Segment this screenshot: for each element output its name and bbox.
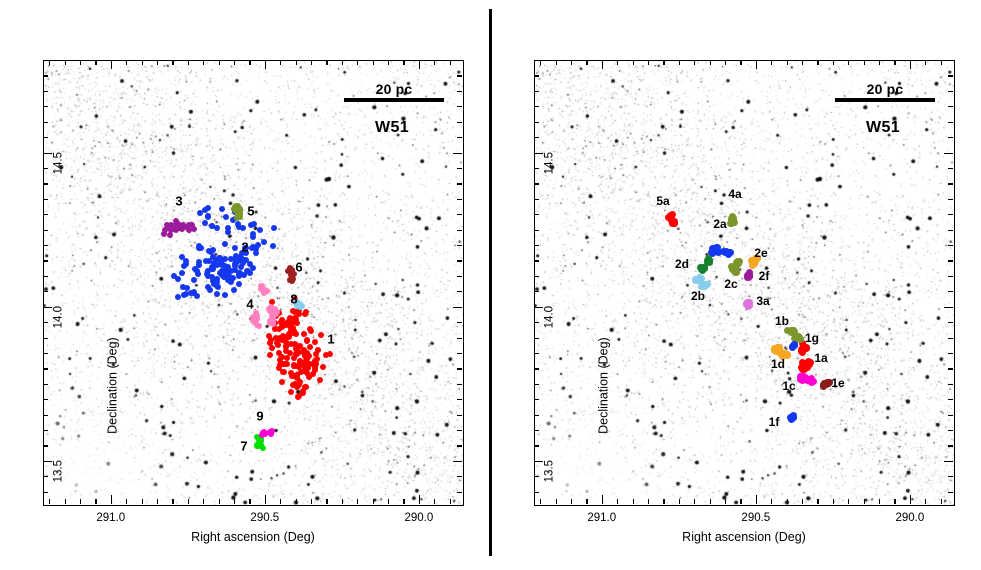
y-tick bbox=[534, 338, 539, 339]
x-tick bbox=[450, 499, 451, 504]
x-tick bbox=[894, 499, 895, 504]
x-tick bbox=[941, 60, 942, 65]
x-tick bbox=[802, 499, 803, 504]
y-tick bbox=[457, 415, 462, 416]
x-tick bbox=[172, 60, 173, 65]
x-tick bbox=[894, 60, 895, 65]
y-tick bbox=[43, 168, 48, 169]
y-tick-label: 14.0 bbox=[52, 306, 64, 328]
y-tick bbox=[534, 260, 539, 261]
x-tick bbox=[388, 499, 389, 504]
y-tick bbox=[43, 276, 48, 277]
y-tick bbox=[948, 291, 953, 292]
y-tick bbox=[948, 168, 953, 169]
y-tick bbox=[948, 322, 953, 323]
y-tick bbox=[534, 492, 539, 493]
y-tick bbox=[457, 276, 462, 277]
y-tick bbox=[534, 122, 539, 123]
object-name-left: W51 bbox=[375, 119, 409, 137]
y-tick bbox=[43, 461, 52, 462]
y-tick bbox=[534, 91, 539, 92]
x-tick bbox=[571, 499, 572, 504]
y-tick bbox=[948, 384, 953, 385]
x-tick bbox=[126, 60, 127, 65]
y-tick bbox=[43, 430, 48, 431]
y-tick bbox=[948, 368, 953, 369]
x-tick bbox=[219, 499, 220, 504]
y-tick bbox=[948, 415, 953, 416]
x-tick bbox=[388, 60, 389, 65]
y-tick bbox=[457, 291, 462, 292]
y-tick bbox=[534, 153, 543, 154]
x-tick bbox=[234, 499, 235, 504]
y-tick bbox=[534, 60, 539, 61]
y-tick bbox=[948, 338, 953, 339]
y-tick bbox=[457, 230, 462, 231]
y-tick bbox=[43, 91, 48, 92]
y-tick bbox=[948, 106, 953, 107]
x-tick bbox=[817, 60, 818, 65]
x-tick bbox=[434, 60, 435, 65]
y-tick bbox=[948, 137, 953, 138]
y-tick bbox=[948, 230, 953, 231]
x-tick bbox=[663, 499, 664, 504]
x-tick bbox=[602, 495, 603, 504]
y-tick bbox=[43, 106, 48, 107]
y-tick bbox=[534, 353, 539, 354]
y-tick bbox=[43, 399, 48, 400]
x-tick bbox=[203, 60, 204, 65]
x-tick bbox=[771, 499, 772, 504]
x-tick bbox=[586, 499, 587, 504]
y-tick bbox=[43, 368, 48, 369]
y-tick bbox=[457, 75, 462, 76]
x-tick bbox=[311, 499, 312, 504]
x-tick-label: 291.0 bbox=[96, 512, 125, 524]
y-tick bbox=[43, 338, 48, 339]
y-tick bbox=[43, 353, 48, 354]
x-tick bbox=[617, 60, 618, 65]
x-tick bbox=[342, 60, 343, 65]
y-axis-title-left: Declination (Deg) bbox=[106, 337, 120, 434]
figure-root: 123456789 20 pc W51 291.0290.5290.014.51… bbox=[0, 0, 981, 570]
y-tick bbox=[43, 183, 48, 184]
x-tick bbox=[925, 499, 926, 504]
y-tick bbox=[534, 199, 539, 200]
y-tick bbox=[948, 430, 953, 431]
y-tick bbox=[948, 122, 953, 123]
x-tick bbox=[694, 499, 695, 504]
y-tick bbox=[534, 106, 539, 107]
y-tick bbox=[43, 245, 48, 246]
y-tick bbox=[43, 260, 48, 261]
y-tick bbox=[453, 153, 462, 154]
x-tick bbox=[571, 60, 572, 65]
scale-bar-label: 20 pc bbox=[344, 81, 444, 97]
y-tick bbox=[944, 307, 953, 308]
x-tick bbox=[403, 60, 404, 65]
x-tick bbox=[540, 499, 541, 504]
x-tick bbox=[633, 60, 634, 65]
y-tick bbox=[457, 214, 462, 215]
x-tick bbox=[142, 60, 143, 65]
x-tick bbox=[419, 495, 420, 504]
y-tick bbox=[43, 199, 48, 200]
y-tick bbox=[43, 445, 48, 446]
x-tick bbox=[617, 499, 618, 504]
scale-bar-line bbox=[835, 98, 935, 102]
y-tick bbox=[457, 183, 462, 184]
x-tick-label: 290.5 bbox=[250, 512, 279, 524]
y-tick bbox=[534, 168, 539, 169]
y-tick bbox=[457, 199, 462, 200]
x-tick bbox=[710, 499, 711, 504]
x-tick bbox=[203, 499, 204, 504]
y-tick bbox=[534, 214, 539, 215]
x-tick bbox=[65, 499, 66, 504]
x-tick bbox=[941, 499, 942, 504]
x-tick bbox=[265, 60, 266, 69]
y-tick bbox=[948, 60, 953, 61]
x-tick bbox=[450, 60, 451, 65]
x-tick bbox=[864, 499, 865, 504]
y-tick bbox=[457, 384, 462, 385]
x-tick-label: 290.0 bbox=[404, 512, 433, 524]
x-tick bbox=[833, 60, 834, 65]
x-tick bbox=[357, 499, 358, 504]
x-tick bbox=[373, 60, 374, 65]
y-tick bbox=[457, 322, 462, 323]
scale-bar-line bbox=[344, 98, 444, 102]
y-tick bbox=[457, 492, 462, 493]
x-tick bbox=[296, 499, 297, 504]
y-tick bbox=[43, 415, 48, 416]
x-tick bbox=[540, 60, 541, 65]
y-tick bbox=[534, 430, 539, 431]
y-tick bbox=[534, 445, 539, 446]
right-plot-frame: 1a1b1c1d1e1f1g2a2b2c2d2e2f3a4a5a 20 pc W… bbox=[534, 60, 955, 506]
x-tick bbox=[633, 499, 634, 504]
x-tick bbox=[95, 60, 96, 65]
y-tick bbox=[43, 291, 48, 292]
y-tick bbox=[457, 60, 462, 61]
x-tick bbox=[249, 60, 250, 65]
y-tick bbox=[948, 245, 953, 246]
y-tick bbox=[948, 260, 953, 261]
x-tick bbox=[80, 60, 81, 65]
x-tick bbox=[65, 60, 66, 65]
x-tick bbox=[771, 60, 772, 65]
y-tick bbox=[43, 60, 48, 61]
y-tick bbox=[948, 353, 953, 354]
y-tick bbox=[948, 276, 953, 277]
x-tick bbox=[265, 495, 266, 504]
y-tick bbox=[43, 384, 48, 385]
x-tick bbox=[910, 60, 911, 69]
x-tick bbox=[910, 495, 911, 504]
x-tick bbox=[864, 60, 865, 65]
x-tick bbox=[111, 495, 112, 504]
y-tick bbox=[457, 353, 462, 354]
x-tick bbox=[725, 499, 726, 504]
y-tick bbox=[43, 476, 48, 477]
scale-bar-left: 20 pc bbox=[344, 81, 444, 102]
scale-bar-label: 20 pc bbox=[835, 81, 935, 97]
x-tick bbox=[49, 60, 50, 65]
y-tick bbox=[43, 137, 48, 138]
x-tick bbox=[679, 60, 680, 65]
y-tick bbox=[948, 492, 953, 493]
y-tick bbox=[534, 230, 539, 231]
x-tick bbox=[756, 495, 757, 504]
y-tick-label: 13.5 bbox=[52, 460, 64, 482]
y-tick bbox=[948, 476, 953, 477]
x-tick-label: 290.0 bbox=[895, 512, 924, 524]
y-tick bbox=[948, 445, 953, 446]
y-tick bbox=[457, 91, 462, 92]
y-tick-label: 14.5 bbox=[543, 152, 555, 174]
object-name-right: W51 bbox=[866, 119, 900, 137]
y-tick bbox=[457, 137, 462, 138]
x-tick bbox=[403, 499, 404, 504]
x-tick bbox=[142, 499, 143, 504]
x-tick bbox=[419, 60, 420, 69]
x-tick bbox=[602, 60, 603, 69]
x-tick bbox=[586, 60, 587, 65]
x-tick-label: 290.5 bbox=[741, 512, 770, 524]
x-tick bbox=[157, 499, 158, 504]
scale-bar-right: 20 pc bbox=[835, 81, 935, 102]
y-tick bbox=[948, 183, 953, 184]
x-tick bbox=[833, 499, 834, 504]
x-tick bbox=[740, 60, 741, 65]
y-tick bbox=[457, 476, 462, 477]
x-tick bbox=[188, 60, 189, 65]
x-tick bbox=[342, 499, 343, 504]
y-tick-label: 13.5 bbox=[543, 460, 555, 482]
y-tick bbox=[43, 307, 52, 308]
y-tick bbox=[457, 106, 462, 107]
x-tick bbox=[188, 499, 189, 504]
x-tick bbox=[219, 60, 220, 65]
y-tick bbox=[457, 445, 462, 446]
x-tick bbox=[879, 60, 880, 65]
x-tick bbox=[817, 499, 818, 504]
y-tick bbox=[457, 338, 462, 339]
y-tick bbox=[534, 137, 539, 138]
x-tick bbox=[802, 60, 803, 65]
y-tick-label: 14.0 bbox=[543, 306, 555, 328]
y-tick bbox=[534, 291, 539, 292]
y-tick bbox=[43, 122, 48, 123]
x-tick bbox=[787, 60, 788, 65]
x-tick bbox=[679, 499, 680, 504]
y-tick bbox=[457, 399, 462, 400]
y-tick bbox=[534, 322, 539, 323]
y-tick bbox=[534, 75, 539, 76]
right-panel: 1a1b1c1d1e1f1g2a2b2c2d2e2f3a4a5a 20 pc W… bbox=[491, 0, 981, 570]
x-tick-label: 291.0 bbox=[587, 512, 616, 524]
x-tick bbox=[280, 499, 281, 504]
y-tick bbox=[534, 245, 539, 246]
y-tick bbox=[534, 276, 539, 277]
x-tick bbox=[848, 499, 849, 504]
y-axis-title-right: Declination (Deg) bbox=[597, 337, 611, 434]
x-tick bbox=[111, 60, 112, 69]
x-tick bbox=[234, 60, 235, 65]
x-tick bbox=[357, 60, 358, 65]
x-tick bbox=[95, 499, 96, 504]
y-tick bbox=[534, 399, 539, 400]
y-tick bbox=[457, 430, 462, 431]
x-tick bbox=[373, 499, 374, 504]
y-tick bbox=[948, 75, 953, 76]
x-tick bbox=[925, 60, 926, 65]
x-tick bbox=[663, 60, 664, 65]
y-tick bbox=[944, 461, 953, 462]
y-tick bbox=[948, 199, 953, 200]
y-tick bbox=[43, 322, 48, 323]
x-tick bbox=[710, 60, 711, 65]
y-tick bbox=[43, 153, 52, 154]
x-tick bbox=[280, 60, 281, 65]
y-tick bbox=[457, 168, 462, 169]
x-tick bbox=[879, 499, 880, 504]
y-tick bbox=[534, 384, 539, 385]
y-tick bbox=[457, 122, 462, 123]
x-tick bbox=[648, 499, 649, 504]
x-tick bbox=[172, 499, 173, 504]
y-tick bbox=[453, 307, 462, 308]
x-axis-title-right: Right ascension (Deg) bbox=[682, 530, 806, 544]
x-tick bbox=[157, 60, 158, 65]
y-tick bbox=[534, 461, 543, 462]
x-axis-title-left: Right ascension (Deg) bbox=[191, 530, 315, 544]
x-tick bbox=[249, 499, 250, 504]
x-tick bbox=[311, 60, 312, 65]
x-tick bbox=[326, 499, 327, 504]
x-tick bbox=[756, 60, 757, 69]
x-tick bbox=[648, 60, 649, 65]
y-tick bbox=[948, 214, 953, 215]
y-tick-label: 14.5 bbox=[52, 152, 64, 174]
x-tick bbox=[49, 499, 50, 504]
y-tick bbox=[948, 399, 953, 400]
x-tick bbox=[740, 499, 741, 504]
y-tick bbox=[944, 153, 953, 154]
x-tick bbox=[556, 60, 557, 65]
y-tick bbox=[534, 307, 543, 308]
y-tick bbox=[453, 461, 462, 462]
y-tick bbox=[43, 492, 48, 493]
x-tick bbox=[787, 499, 788, 504]
y-tick bbox=[43, 214, 48, 215]
y-tick bbox=[43, 230, 48, 231]
y-tick bbox=[534, 183, 539, 184]
x-tick bbox=[556, 499, 557, 504]
y-tick bbox=[43, 75, 48, 76]
y-tick bbox=[457, 260, 462, 261]
x-tick bbox=[725, 60, 726, 65]
y-tick bbox=[457, 368, 462, 369]
x-tick bbox=[80, 499, 81, 504]
y-tick bbox=[534, 476, 539, 477]
x-tick bbox=[694, 60, 695, 65]
y-tick bbox=[457, 245, 462, 246]
y-tick bbox=[948, 91, 953, 92]
x-tick bbox=[126, 499, 127, 504]
left-plot-frame: 123456789 20 pc W51 bbox=[43, 60, 464, 506]
y-tick bbox=[534, 415, 539, 416]
left-panel: 123456789 20 pc W51 291.0290.5290.014.51… bbox=[0, 0, 490, 570]
y-tick bbox=[534, 368, 539, 369]
x-tick bbox=[848, 60, 849, 65]
x-tick bbox=[326, 60, 327, 65]
x-tick bbox=[296, 60, 297, 65]
x-tick bbox=[434, 499, 435, 504]
